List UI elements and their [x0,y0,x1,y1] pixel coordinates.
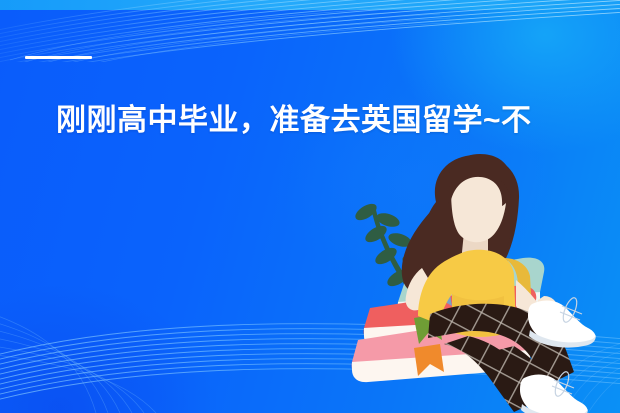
girl-on-books-illustration [318,150,620,413]
sneaker-upper [528,296,596,348]
promo-banner: 刚刚高中毕业，准备去英国留学~不 [0,0,620,413]
page-title: 刚刚高中毕业，准备去英国留学~不 [56,101,532,141]
accent-rule [25,56,92,59]
